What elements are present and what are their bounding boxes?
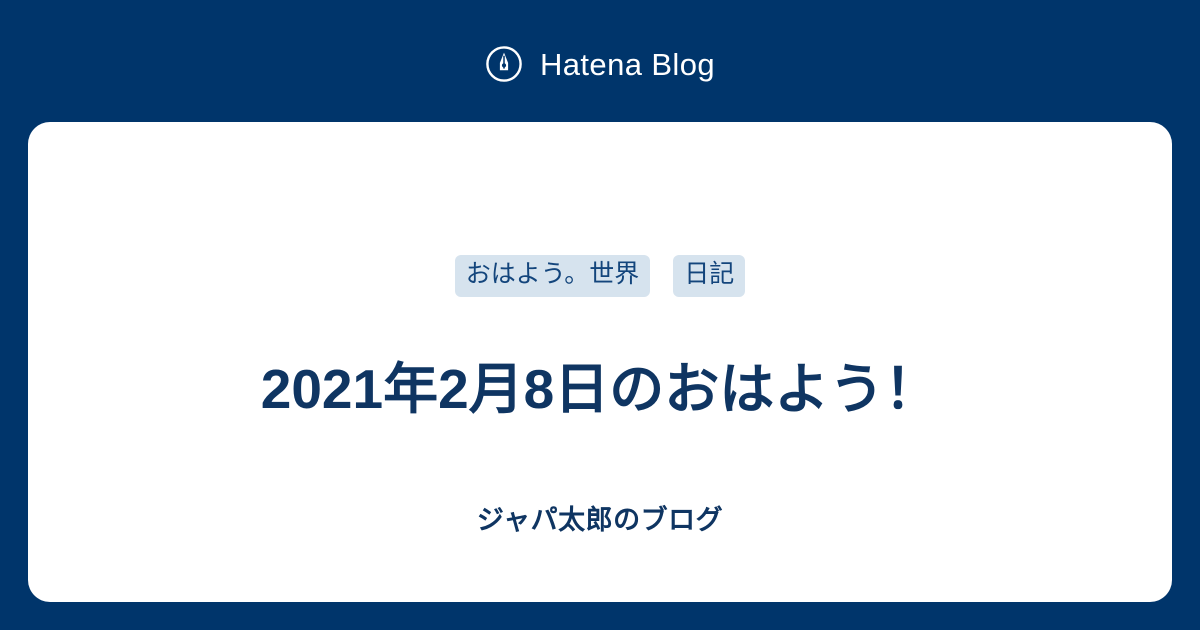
hatena-pen-nib-icon <box>485 45 523 83</box>
entry-tag[interactable]: 日記 <box>673 255 745 297</box>
entry-title[interactable]: 2021年2月8日のおはよう！ <box>28 355 1172 424</box>
entry-tag-list: おはよう。世界 日記 <box>28 255 1172 297</box>
brand-name: Hatena Blog <box>540 49 715 80</box>
blog-name[interactable]: ジャパ太郎のブログ <box>28 504 1172 536</box>
entry-card-panel: おはよう。世界 日記 2021年2月8日のおはよう！ ジャパ太郎のブログ <box>28 122 1172 602</box>
brand-header: Hatena Blog <box>0 36 1200 92</box>
hatena-blog-og-card: Hatena Blog おはよう。世界 日記 2021年2月8日のおはよう！ ジ… <box>0 0 1200 630</box>
entry-tag[interactable]: おはよう。世界 <box>455 255 651 297</box>
